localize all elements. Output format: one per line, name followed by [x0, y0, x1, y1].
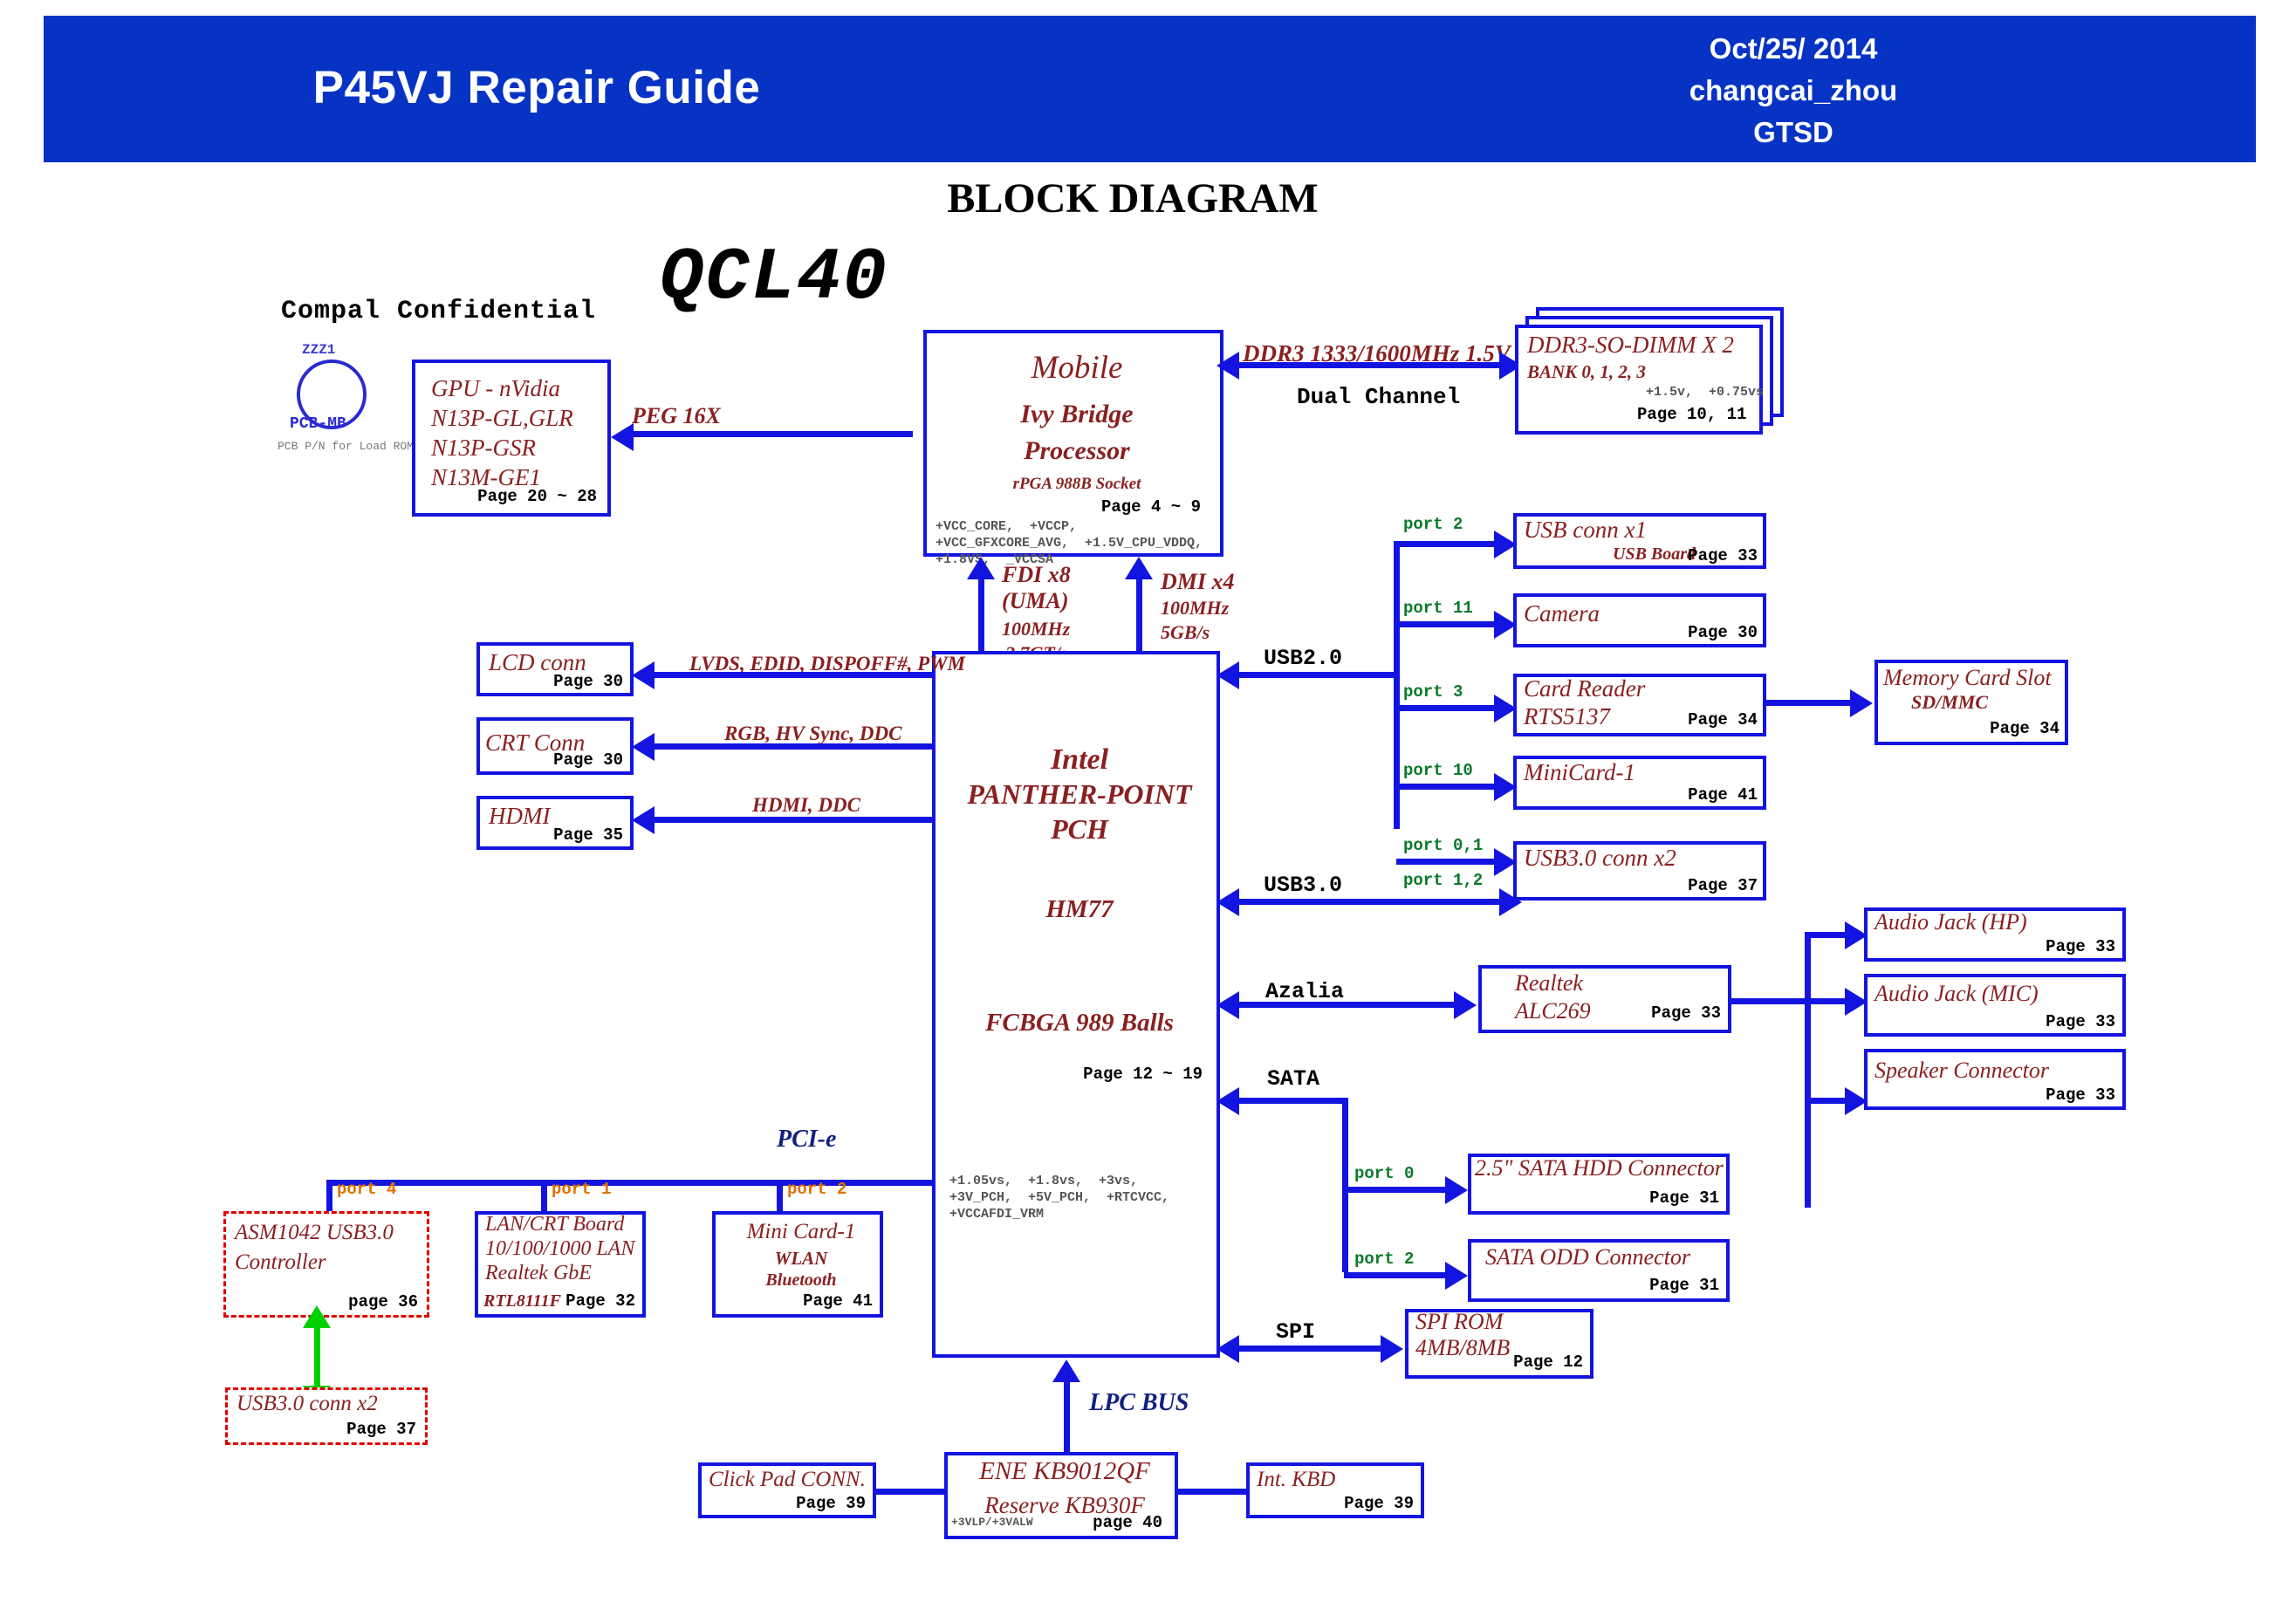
pch-sku-label: HM77	[936, 895, 1223, 924]
camera-label: Camera	[1524, 600, 1600, 627]
speaker-connector-block[interactable]: Speaker Connector Page 33	[1864, 1049, 2126, 1110]
usb20-bus-label: USB2.0	[1264, 646, 1342, 671]
hdmi-arrow-left	[632, 806, 655, 834]
sata-port-2-label: port 2	[1354, 1250, 1414, 1269]
diagram-title: BLOCK DIAGRAM	[915, 175, 1351, 223]
usb3-conn-bottom-label: USB3.0 conn x2	[236, 1392, 378, 1416]
lan-board-block[interactable]: LAN/CRT Board 10/100/1000 LAN Realtek Gb…	[475, 1211, 646, 1318]
lan-line-3: Realtek GbE	[485, 1262, 592, 1285]
audio-jack-mic-block[interactable]: Audio Jack (MIC) Page 33	[1864, 974, 2126, 1037]
usb-port-01-wire	[1396, 859, 1498, 865]
fdi-freq-label: 100MHz	[1002, 618, 1070, 640]
card-reader-label: Card Reader	[1524, 675, 1645, 702]
audio-codec-brand: Realtek	[1515, 970, 1583, 996]
asm1042-block[interactable]: ASM1042 USB3.0 Controller page 36	[223, 1211, 429, 1318]
model-code-label: QCL40	[660, 237, 888, 320]
peg-arrow-left	[611, 423, 634, 451]
header-date: Oct/25/ 2014	[1593, 28, 1994, 70]
fdi-bus-label: FDI x8 (UMA)	[1002, 562, 1071, 614]
memory-card-slot-type: SD/MMC	[1911, 691, 1988, 714]
minicard-wlan-line-3: Bluetooth	[716, 1270, 887, 1291]
lan-line-2: 10/100/1000 LAN	[485, 1237, 634, 1261]
clickpad-conn-block[interactable]: Click Pad CONN. Page 39	[698, 1462, 876, 1518]
cpu-page: Page 4 ~ 9	[1101, 497, 1201, 517]
gpu-line-1: GPU - nVidia	[431, 375, 560, 402]
memory-card-slot-page: Page 34	[1990, 719, 2060, 738]
usb-conn-page: Page 33	[1688, 546, 1758, 565]
usb3-conn-bottom-block[interactable]: USB3.0 conn x2 Page 37	[225, 1387, 428, 1445]
usb30-wire	[1239, 899, 1503, 905]
camera-block[interactable]: Camera Page 30	[1513, 593, 1766, 647]
dram-block[interactable]: DDR3-SO-DIMM X 2 BANK 0, 1, 2, 3 +1.5v, …	[1515, 325, 1763, 435]
sata-wire	[1239, 1098, 1347, 1104]
usb3-conn-x2-page: Page 37	[1688, 876, 1758, 895]
cpu-line-3: Processor	[927, 436, 1227, 466]
fdi-arrow-up	[967, 557, 995, 579]
minicard1-usb-page: Page 41	[1688, 785, 1758, 805]
minicard1-usb-block[interactable]: MiniCard-1 Page 41	[1513, 756, 1766, 810]
dual-channel-label: Dual Channel	[1297, 384, 1460, 410]
usb-conn-label: USB conn x1	[1524, 517, 1647, 544]
usb-port-01-label: port 0,1	[1403, 836, 1483, 855]
azalia-bus-label: Azalia	[1265, 979, 1344, 1004]
block-diagram-page: P45VJ Repair Guide Oct/25/ 2014 changcai…	[0, 0, 2296, 1623]
page-header: P45VJ Repair Guide Oct/25/ 2014 changcai…	[44, 16, 2256, 162]
ddr3-wire	[1239, 362, 1501, 368]
azalia-arrow-left	[1217, 991, 1239, 1019]
intkbd-wire	[1175, 1489, 1250, 1495]
ddr3-arrow-left	[1217, 352, 1239, 380]
usb30-bus-label: USB3.0	[1264, 873, 1342, 898]
lan-part-number: RTL8111F	[483, 1291, 561, 1311]
usb3-conn-x2-block[interactable]: USB3.0 conn x2 Page 37	[1513, 841, 1766, 901]
usb30-arrow-left	[1217, 888, 1239, 916]
sata-arrow-left	[1217, 1087, 1239, 1115]
sata-hdd-page: Page 31	[1649, 1188, 1719, 1208]
usb-port-11-wire	[1396, 621, 1498, 627]
rgb-arrow-left	[632, 733, 655, 761]
lvds-wire	[655, 672, 936, 678]
gpu-block[interactable]: GPU - nVidia N13P-GL,GLR N13P-GSR N13M-G…	[412, 360, 611, 517]
pcie-bus-label: PCI-e	[777, 1126, 836, 1154]
sata-hdd-label: 2.5" SATA HDD Connector	[1475, 1155, 1724, 1181]
confidential-label: Compal Confidential	[281, 297, 596, 326]
dram-power-rails: +1.5v, +0.75vs	[1646, 384, 1764, 401]
pch-line-3: PCH	[936, 813, 1223, 846]
usb20-arrow-left	[1217, 661, 1239, 689]
usb20-wire	[1239, 672, 1400, 678]
pch-power-rails: +1.05vs, +1.8vs, +3vs, +3V_PCH, +5V_PCH,…	[949, 1173, 1169, 1222]
int-kbd-label: Int. KBD	[1257, 1468, 1335, 1492]
sata-port-0-label: port 0	[1354, 1164, 1414, 1183]
dmi-arrow-up	[1125, 557, 1153, 579]
audio-codec-page: Page 33	[1651, 1003, 1721, 1023]
card-reader-block[interactable]: Card Reader RTS5137 Page 34	[1513, 674, 1766, 736]
clickpad-conn-label: Click Pad CONN.	[709, 1468, 866, 1492]
audio-jack-mic-label: Audio Jack (MIC)	[1874, 981, 2039, 1007]
pcb-ref-label: ZZZ1	[302, 342, 335, 358]
codec-out-trunk	[1805, 932, 1811, 1208]
card-reader-to-slot-wire	[1766, 700, 1854, 706]
gpu-page: Page 20 ~ 28	[477, 487, 597, 506]
audio-jack-mic-page: Page 33	[2046, 1012, 2115, 1031]
hdmi-block[interactable]: HDMI Page 35	[476, 796, 634, 850]
memory-card-slot-block[interactable]: Memory Card Slot SD/MMC Page 34	[1874, 660, 2068, 745]
usb3-conn-x2-label: USB3.0 conn x2	[1524, 845, 1676, 872]
dram-line-2: BANK 0, 1, 2, 3	[1527, 361, 1646, 383]
sata-odd-block[interactable]: SATA ODD Connector Page 31	[1468, 1239, 1730, 1302]
usb-port-10-wire	[1396, 784, 1498, 790]
codec-hp-wire	[1805, 932, 1848, 938]
sata-bus-label: SATA	[1267, 1066, 1319, 1092]
usb-port-11-label: port 11	[1403, 599, 1473, 618]
codec-mic-wire	[1805, 998, 1848, 1004]
memory-card-slot-label: Memory Card Slot	[1883, 665, 2052, 691]
card-reader-to-slot-arrow	[1850, 689, 1873, 717]
header-department: GTSD	[1593, 112, 1994, 154]
sata-trunk	[1342, 1098, 1348, 1272]
cpu-block[interactable]: Mobile Ivy Bridge Processor rPGA 988B So…	[923, 330, 1223, 557]
crt-conn-block[interactable]: CRT Conn Page 30	[476, 717, 634, 775]
usb-port-12-label: port 1,2	[1403, 871, 1483, 890]
dmi-freq-label: 100MHz	[1161, 597, 1229, 620]
usb-port-3-wire	[1396, 705, 1498, 711]
audio-jack-hp-page: Page 33	[2046, 937, 2115, 956]
speaker-connector-label: Speaker Connector	[1874, 1058, 2049, 1084]
lcd-conn-block[interactable]: LCD conn Page 30	[476, 642, 634, 696]
peg-bus-label: PEG 16X	[632, 403, 721, 429]
ec-power-rails: +3VLP/+3VALW	[951, 1514, 1033, 1531]
sata-hdd-block[interactable]: 2.5" SATA HDD Connector Page 31	[1468, 1154, 1730, 1215]
card-reader-page: Page 34	[1688, 710, 1758, 729]
spi-bus-label: SPI	[1276, 1319, 1315, 1345]
dmi-rate-label: 5GB/s	[1161, 621, 1210, 644]
minicard-wlan-page: Page 41	[803, 1291, 873, 1311]
pcie-port-1-label: port 1	[552, 1180, 611, 1199]
ec-part-label: ENE KB9012QF	[948, 1457, 1182, 1486]
spi-arrow-left	[1217, 1335, 1239, 1363]
pch-line-1: Intel	[936, 743, 1223, 777]
peg-wire	[634, 431, 913, 437]
usb-conn-block[interactable]: USB conn x1 USB Board Page 33	[1513, 513, 1766, 569]
cpu-socket-label: rPGA 988B Socket	[927, 475, 1227, 494]
clickpad-wire	[873, 1489, 948, 1495]
hdmi-ddc-bus-label: HDMI, DDC	[752, 794, 860, 817]
int-kbd-page: Page 39	[1344, 1494, 1414, 1513]
pch-line-2: PANTHER-POINT	[936, 778, 1223, 811]
hdmi-page: Page 35	[553, 825, 623, 845]
lpc-bus-label: LPC BUS	[1089, 1389, 1189, 1417]
lvds-arrow-left	[632, 661, 655, 689]
rgb-wire	[655, 743, 936, 750]
clickpad-conn-page: Page 39	[796, 1494, 866, 1513]
spi-rom-page: Page 12	[1513, 1352, 1583, 1372]
cpu-line-1: Mobile	[927, 349, 1227, 387]
header-author: changcai_zhou	[1593, 70, 1994, 112]
minicard-wlan-block[interactable]: Mini Card-1 WLAN Bluetooth Page 41	[712, 1211, 883, 1318]
usb-port-10-label: port 10	[1403, 761, 1473, 780]
usb-port-2-wire	[1396, 541, 1498, 547]
asm1042-line-1: ASM1042 USB3.0	[235, 1221, 394, 1245]
usb-port-2-label: port 2	[1403, 515, 1463, 534]
crt-conn-page: Page 30	[553, 750, 623, 770]
dmi-bus-label: DMI x4	[1161, 569, 1235, 595]
audio-jack-hp-label: Audio Jack (HP)	[1874, 909, 2027, 935]
lan-page: Page 32	[565, 1291, 635, 1311]
sata-odd-page: Page 31	[1649, 1276, 1719, 1295]
speaker-connector-page: Page 33	[2046, 1085, 2115, 1105]
sata-port-0-wire	[1344, 1187, 1449, 1193]
codec-out-wire	[1731, 998, 1810, 1004]
spi-rom-label: SPI ROM	[1415, 1309, 1503, 1335]
dram-page: Page 10, 11	[1637, 405, 1746, 424]
lcd-conn-page: Page 30	[553, 672, 623, 691]
asm1042-usb3-link	[314, 1323, 320, 1387]
cpu-line-2: Ivy Bridge	[927, 400, 1227, 429]
header-meta: Oct/25/ 2014 changcai_zhou GTSD	[1593, 28, 1994, 154]
sata-port-2-arrow	[1445, 1262, 1468, 1290]
dram-line-1: DDR3-SO-DIMM X 2	[1527, 332, 1734, 359]
sata-port-0-arrow	[1445, 1176, 1468, 1204]
usb3-conn-bottom-page: Page 37	[346, 1420, 416, 1439]
pcb-note-label: PCB P/N for Load ROM	[278, 440, 414, 453]
audio-codec-block[interactable]: Realtek ALC269 Page 33	[1478, 965, 1731, 1033]
sata-port-2-wire	[1344, 1272, 1449, 1278]
page-title: P45VJ Repair Guide	[44, 61, 1030, 114]
spi-rom-size: 4MB/8MB	[1415, 1335, 1510, 1361]
lan-line-1: LAN/CRT Board	[485, 1213, 624, 1236]
gpu-line-2: N13P-GL,GLR	[431, 405, 573, 432]
card-reader-part: RTS5137	[1524, 703, 1610, 730]
usb-port-3-label: port 3	[1403, 682, 1463, 702]
ec-page: page 40	[1093, 1513, 1162, 1532]
codec-spk-wire	[1805, 1098, 1848, 1104]
pcie-port-2-label: port 2	[787, 1180, 846, 1199]
azalia-wire	[1239, 1002, 1457, 1008]
hdmi-wire	[655, 817, 936, 823]
minicard-wlan-line-2: WLAN	[716, 1248, 887, 1270]
rgb-bus-label: RGB, HV Sync, DDC	[724, 722, 901, 745]
gpu-line-3: N13P-GSR	[431, 435, 536, 462]
fdi-label-line1: FDI x8 (UMA)	[1002, 562, 1071, 613]
pch-block[interactable]: Intel PANTHER-POINT PCH HM77 FCBGA 989 B…	[932, 651, 1220, 1358]
minicard-wlan-line-1: Mini Card-1	[716, 1220, 887, 1244]
spi-arrow-right	[1381, 1335, 1403, 1363]
hdmi-label: HDMI	[489, 803, 550, 830]
lpc-wire	[1064, 1379, 1070, 1457]
usb-board-label: USB Board	[1613, 544, 1696, 565]
azalia-arrow-right	[1454, 991, 1477, 1019]
lpc-arrow-up	[1052, 1359, 1080, 1382]
asm1042-link-arrow-up	[303, 1305, 331, 1328]
ec-block[interactable]: ENE KB9012QF Reserve KB930F +3VLP/+3VALW…	[944, 1452, 1178, 1539]
pch-page: Page 12 ~ 19	[1083, 1065, 1203, 1084]
audio-codec-part: ALC269	[1515, 998, 1591, 1024]
minicard1-usb-label: MiniCard-1	[1524, 759, 1635, 786]
int-kbd-block[interactable]: Int. KBD Page 39	[1246, 1462, 1424, 1518]
pch-package-label: FCBGA 989 Balls	[936, 1009, 1223, 1037]
pcie-port-4-label: port 4	[337, 1180, 396, 1199]
pcb-name-label: PCB-MB	[290, 415, 346, 433]
camera-page: Page 30	[1688, 623, 1758, 642]
audio-jack-hp-block[interactable]: Audio Jack (HP) Page 33	[1864, 907, 2126, 962]
spi-rom-block[interactable]: SPI ROM 4MB/8MB Page 12	[1405, 1309, 1593, 1379]
asm1042-page: page 36	[348, 1292, 418, 1311]
asm1042-line-2: Controller	[235, 1250, 326, 1275]
sata-odd-label: SATA ODD Connector	[1485, 1244, 1690, 1270]
spi-wire	[1239, 1346, 1384, 1352]
